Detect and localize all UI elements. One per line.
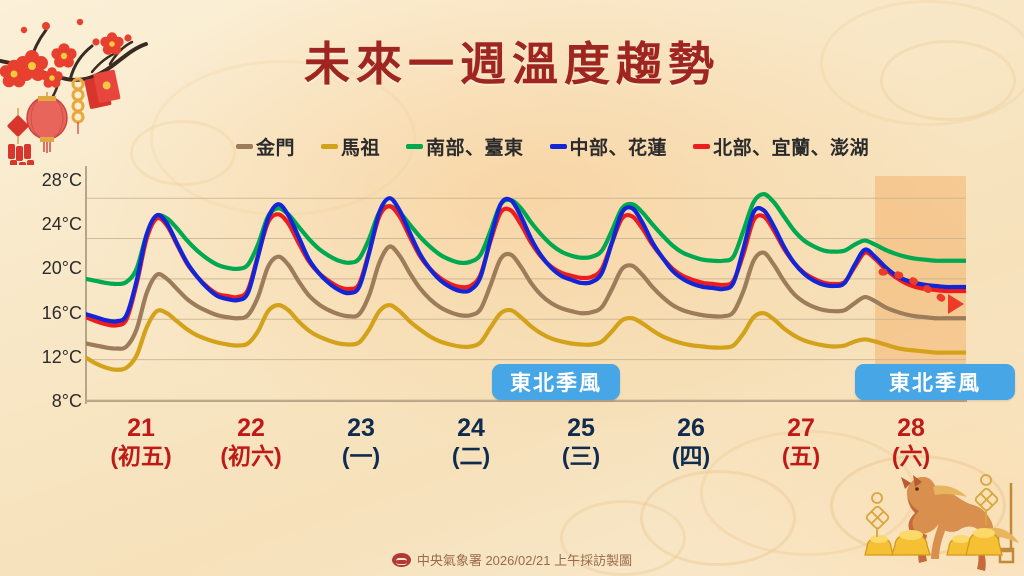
legend-swatch [236, 144, 253, 149]
y-axis: 28°C 24°C 20°C 16°C 12°C 8°C [0, 170, 82, 410]
legend-label: 南部、臺東 [426, 133, 524, 160]
x-label-date: 27 [746, 415, 856, 442]
legend-label: 北部、宜蘭、澎湖 [713, 133, 869, 160]
x-axis-label-22: 22(初六) [196, 415, 306, 470]
arrow-head-icon [948, 294, 964, 314]
x-label-date: 22 [196, 415, 306, 442]
legend-label: 中部、花蓮 [570, 133, 668, 160]
chart-legend: 金門 馬祖 南部、臺東 中部、花蓮 北部、宜蘭、澎湖 [236, 133, 1016, 159]
x-label-weekday: (四) [636, 442, 746, 470]
weather-infographic: 未來一週溫度趨勢 金門 馬祖 南部、臺東 中部、花蓮 北部、宜蘭、澎湖 28°C… [0, 0, 1024, 576]
legend-item-north-yilan-penghu: 北部、宜蘭、澎湖 [693, 133, 869, 160]
legend-item-south-taitung: 南部、臺東 [406, 133, 524, 160]
x-label-weekday: (初六) [196, 442, 306, 470]
x-axis-label-26: 26(四) [636, 415, 746, 470]
x-label-weekday: (一) [306, 442, 416, 470]
footer: 中央氣象署 2026/02/21 上午採訪製圖 [0, 550, 1024, 569]
y-tick-label: 8°C [52, 391, 82, 412]
x-axis-label-25: 25(三) [526, 415, 636, 470]
legend-swatch [693, 144, 710, 149]
page-title: 未來一週溫度趨勢 [0, 28, 1024, 94]
y-tick-label: 16°C [42, 303, 82, 324]
x-axis-label-21: 21(初五) [86, 415, 196, 470]
legend-swatch [406, 144, 423, 149]
legend-label: 金門 [256, 133, 295, 160]
legend-swatch [550, 144, 567, 149]
dotted-down-arrow-icon [882, 272, 952, 304]
x-label-weekday: (三) [526, 442, 636, 470]
legend-item-central-hualien: 中部、花蓮 [550, 133, 668, 160]
x-label-date: 25 [526, 415, 636, 442]
x-label-weekday: (二) [416, 442, 526, 470]
x-label-date: 28 [856, 415, 966, 442]
cwa-logo-icon [392, 553, 411, 567]
legend-item-matsu: 馬祖 [321, 133, 380, 160]
x-axis-label-24: 24(二) [416, 415, 526, 470]
y-tick-label: 12°C [42, 347, 82, 368]
legend-item-jinmen: 金門 [236, 133, 295, 160]
x-axis-labels: 21(初五)22(初六)23(一)24(二)25(三)26(四)27(五)28(… [86, 415, 966, 477]
monsoon-badge-1: 東北季風 [492, 364, 620, 400]
x-label-date: 23 [306, 415, 416, 442]
legend-label: 馬祖 [341, 133, 380, 160]
y-tick-label: 20°C [42, 258, 82, 279]
x-label-weekday: (五) [746, 442, 856, 470]
x-label-weekday: (初五) [86, 442, 196, 470]
legend-swatch [321, 144, 338, 149]
x-label-date: 24 [416, 415, 526, 442]
y-tick-label: 24°C [42, 214, 82, 235]
monsoon-badge-2: 東北季風 [855, 364, 1015, 400]
x-axis-label-27: 27(五) [746, 415, 856, 470]
x-label-date: 26 [636, 415, 746, 442]
x-axis-label-23: 23(一) [306, 415, 416, 470]
y-tick-label: 28°C [42, 170, 82, 191]
footer-text: 中央氣象署 2026/02/21 上午採訪製圖 [417, 550, 632, 569]
x-label-date: 21 [86, 415, 196, 442]
